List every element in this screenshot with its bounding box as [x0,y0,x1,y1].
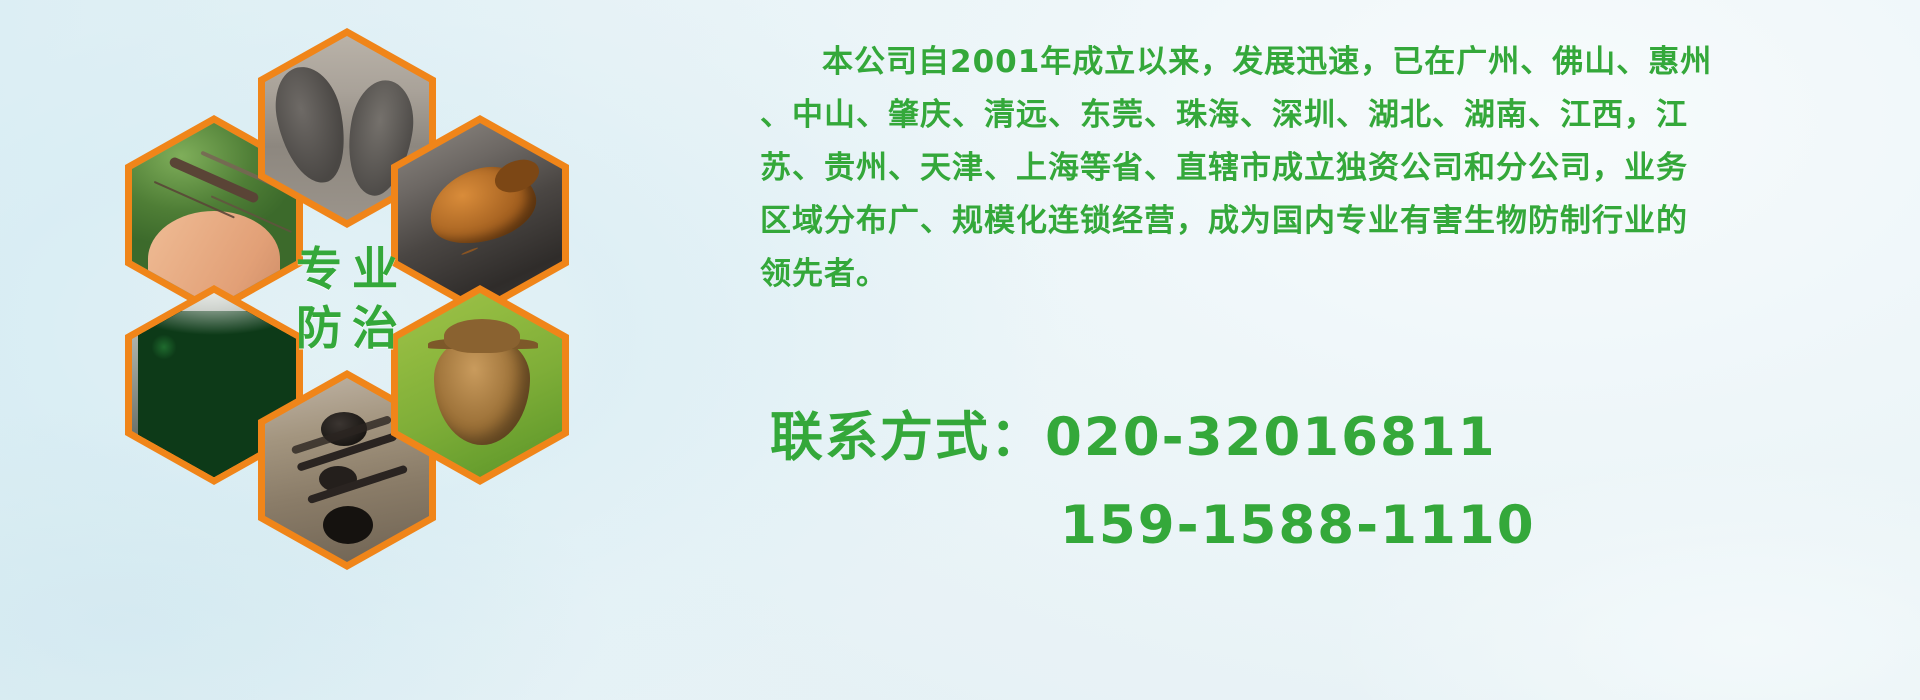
center-label-line-1: 专业 [286,240,408,299]
intro-line-4: 区域分布广、规模化连锁经营，成为国内专业有害生物防制行业的 [760,195,1880,248]
intro-line-1: 本公司自2001年成立以来，发展迅速，已在广州、佛山、惠州 [760,36,1880,89]
intro-line-2: 、中山、肇庆、清远、东莞、珠海、深圳、湖北、湖南、江西，江 [760,89,1880,142]
contact-primary-line[interactable]: 联系方式：020-32016811 [770,395,1536,471]
honeycomb-photo-cluster: 专业 防治 [95,10,595,570]
intro-line-3: 苏、贵州、天津、上海等省、直辖市成立独资公司和分公司，业务 [760,142,1880,195]
company-intro-block: 本公司自2001年成立以来，发展迅速，已在广州、佛山、惠州 、中山、肇庆、清远、… [760,36,1880,301]
promo-banner: 专业 防治 本公司自2001年成立以来，发展迅速，已在广州、佛山、惠州 、中山、… [0,0,1920,700]
intro-line-1-text: 本公司自2001年成立以来，发展迅速，已在广州、佛山、惠州 [822,44,1712,80]
center-label-line-2: 防治 [286,299,408,358]
honeycomb-center-label: 专业 防治 [258,199,436,399]
intro-line-5: 领先者。 [760,248,1880,301]
contact-block: 联系方式：020-32016811 159-1588-1110 [770,395,1536,556]
contact-secondary-phone[interactable]: 159-1588-1110 [770,495,1536,556]
